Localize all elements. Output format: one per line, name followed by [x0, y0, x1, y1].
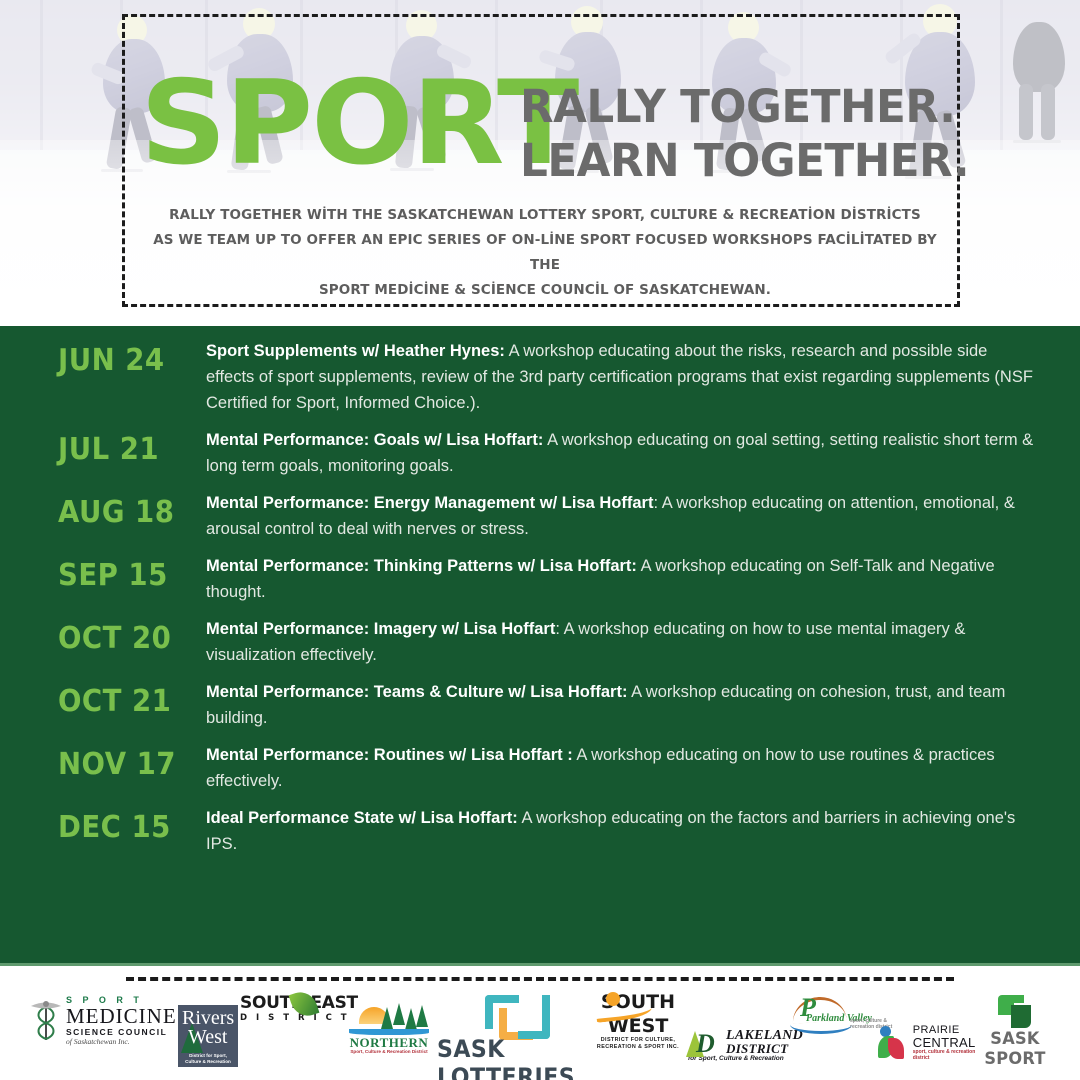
schedule-row: SEP 15 Mental Performance: Thinking Patt…: [0, 553, 1080, 605]
subheadline-block: RALLY TOGETHER WİTH THE SASKATCHEWAN LOT…: [150, 203, 940, 303]
schedule-description: Mental Performance: Imagery w/ Lisa Hoff…: [198, 616, 1040, 668]
subheadline-line-3: SPORT MEDİCİNE & SCİENCE COUNCİL OF SASK…: [150, 278, 940, 303]
sport-wordmark: SPORT: [140, 72, 577, 176]
caduceus-icon: [26, 999, 66, 1043]
schedule-section: JUN 24 Sport Supplements w/ Heather Hyne…: [0, 326, 1080, 966]
schedule-title: Mental Performance: Imagery w/ Lisa Hoff…: [206, 620, 555, 638]
schedule-date: NOV 17: [58, 742, 187, 782]
sport-medicine-wordmark: S P O R T MEDICINE SCIENCE COUNCIL of Sa…: [66, 995, 186, 1046]
schedule-list: JUN 24 Sport Supplements w/ Heather Hyne…: [0, 338, 1080, 868]
schedule-title: Mental Performance: Thinking Patterns w/…: [206, 557, 637, 575]
schedule-description: Ideal Performance State w/ Lisa Hoffart:…: [198, 805, 1040, 857]
prairie-central-mark-icon: [878, 1025, 910, 1059]
logo-rivers-west: Rivers West District for Sport, Culture …: [178, 1005, 238, 1067]
logo-south-west: SOUTH WEST DISTRICT FOR CULTURE, RECREAT…: [590, 991, 686, 1051]
subheadline-line-2: AS WE TEAM UP TO OFFER AN EPIC SERIES OF…: [150, 228, 940, 278]
logo-text-of-saskatchewan: of Saskatchewan Inc.: [66, 1037, 186, 1046]
schedule-title: Mental Performance: Energy Management w/…: [206, 494, 653, 512]
logo-text-south-west-sub: DISTRICT FOR CULTURE, RECREATION & SPORT…: [590, 1037, 686, 1051]
logo-text-medicine: MEDICINE: [66, 1005, 186, 1027]
logo-text-sask-lotteries: SASK LOTTERIES: [437, 1035, 580, 1080]
logo-text-northern-sub: Sport, Culture & Recreation District: [345, 1049, 433, 1054]
schedule-row: JUL 21 Mental Performance: Goals w/ Lisa…: [0, 427, 1080, 479]
schedule-date: OCT 21: [58, 679, 187, 719]
headline-line-2: LEARN TOGETHER.: [520, 134, 947, 188]
schedule-description: Mental Performance: Energy Management w/…: [198, 490, 1040, 542]
schedule-date: AUG 18: [58, 490, 187, 530]
lakeland-mark-icon: D: [684, 1029, 724, 1059]
schedule-row: JUN 24 Sport Supplements w/ Heather Hyne…: [0, 338, 1080, 416]
logo-row: S P O R T MEDICINE SCIENCE COUNCIL of Sa…: [0, 985, 1080, 1080]
logo-south-east: SOUTH EAST D I S T R I C T: [240, 993, 360, 1023]
schedule-title: Mental Performance: Teams & Culture w/ L…: [206, 683, 627, 701]
schedule-date: OCT 20: [58, 616, 187, 656]
schedule-date: SEP 15: [58, 553, 187, 593]
schedule-description: Mental Performance: Teams & Culture w/ L…: [198, 679, 1040, 731]
headline-block: SPORT RALLY TOGETHER. LEARN TOGETHER.: [140, 78, 960, 198]
trees-icon: [381, 1003, 429, 1029]
logo-text-rivers-west-sub: District for Sport, Culture & Recreation: [181, 1053, 235, 1065]
logo-text-west: West: [188, 1028, 228, 1047]
schedule-description: Mental Performance: Thinking Patterns w/…: [198, 553, 1040, 605]
logo-text-district: D I S T R I C T: [240, 1013, 360, 1023]
hero-banner: SPORT RALLY TOGETHER. LEARN TOGETHER. RA…: [0, 0, 1080, 326]
subheadline-line-1: RALLY TOGETHER WİTH THE SASKATCHEWAN LOT…: [150, 203, 940, 228]
sask-lotteries-mark-icon: [485, 995, 545, 1035]
logo-sport-medicine: S P O R T MEDICINE SCIENCE COUNCIL of Sa…: [26, 995, 186, 1047]
dashed-divider: [126, 977, 954, 981]
sponsor-logo-bar: S P O R T MEDICINE SCIENCE COUNCIL of Sa…: [0, 969, 1080, 1080]
schedule-title: Sport Supplements w/ Heather Hynes:: [206, 342, 505, 360]
schedule-row: OCT 20 Mental Performance: Imagery w/ Li…: [0, 616, 1080, 668]
rivers-west-badge: Rivers West District for Sport, Culture …: [178, 1005, 238, 1067]
logo-text-science-council: SCIENCE COUNCIL: [66, 1027, 186, 1037]
headline-lines: RALLY TOGETHER. LEARN TOGETHER.: [520, 80, 960, 188]
logo-sask-lotteries: SASK LOTTERIES: [437, 995, 592, 1080]
logo-sask-sport: SASK SPORT: [965, 995, 1065, 1069]
schedule-row: NOV 17 Mental Performance: Routines w/ L…: [0, 742, 1080, 794]
schedule-row: OCT 21 Mental Performance: Teams & Cultu…: [0, 679, 1080, 731]
sask-sport-mark-icon: [998, 995, 1032, 1029]
schedule-description: Mental Performance: Routines w/ Lisa Hof…: [198, 742, 1040, 794]
logo-text-sask-sport: SASK SPORT: [968, 1029, 1063, 1069]
schedule-title: Mental Performance: Goals w/ Lisa Hoffar…: [206, 431, 543, 449]
logo-text-district: DISTRICT: [726, 1042, 803, 1055]
schedule-title: Mental Performance: Routines w/ Lisa Hof…: [206, 746, 573, 764]
schedule-date: DEC 15: [58, 805, 187, 845]
schedule-description: Sport Supplements w/ Heather Hynes: A wo…: [198, 338, 1040, 416]
schedule-title: Ideal Performance State w/ Lisa Hoffart:: [206, 809, 518, 827]
schedule-row: AUG 18 Mental Performance: Energy Manage…: [0, 490, 1080, 542]
headline-line-1: RALLY TOGETHER.: [520, 80, 947, 134]
schedule-description: Mental Performance: Goals w/ Lisa Hoffar…: [198, 427, 1040, 479]
schedule-date: JUN 24: [58, 338, 187, 378]
schedule-row: DEC 15 Ideal Performance State w/ Lisa H…: [0, 805, 1080, 857]
poster: SPORT RALLY TOGETHER. LEARN TOGETHER. RA…: [0, 0, 1080, 1080]
logo-northern: NORTHERN Sport, Culture & Recreation Dis…: [345, 1007, 435, 1059]
schedule-date: JUL 21: [58, 427, 187, 467]
